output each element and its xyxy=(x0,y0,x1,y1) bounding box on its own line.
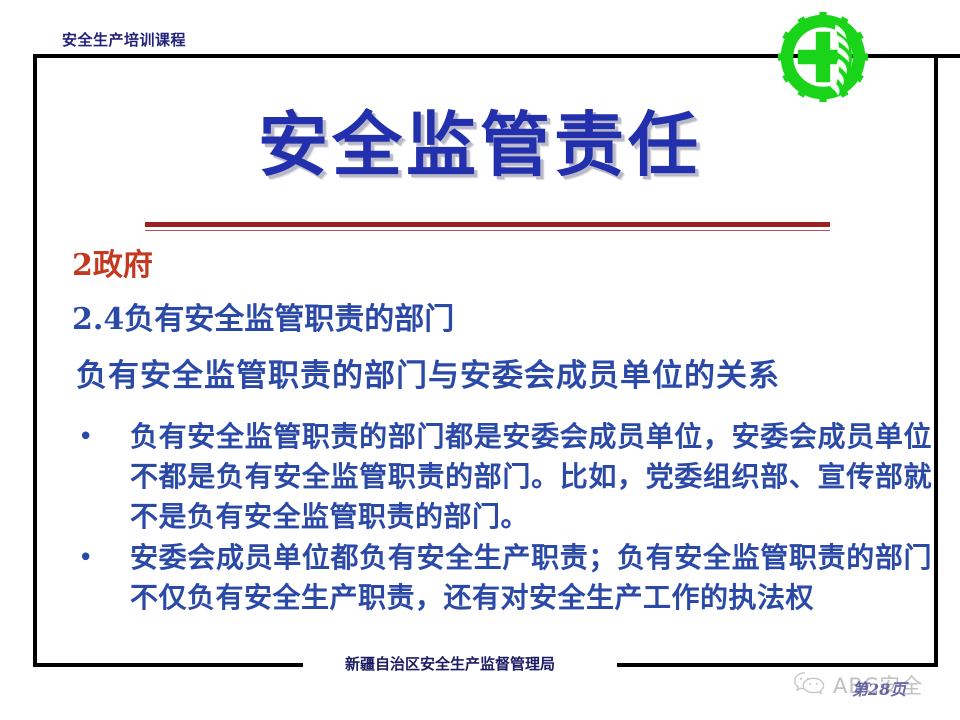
wechat-icon xyxy=(793,670,827,696)
slide-canvas: 安全生产培训课程 xyxy=(0,0,960,720)
section-heading: 2政府 xyxy=(72,249,153,283)
bullet-marker-icon: • xyxy=(72,538,130,578)
topic-line: 负有安全监管职责的部门与安委会成员单位的关系 xyxy=(76,358,780,394)
bullet-marker-icon: • xyxy=(72,417,130,457)
slide-body: 2政府 2.4负有安全监管职责的部门 负有安全监管职责的部门与安委会成员单位的关… xyxy=(0,0,960,720)
sub-heading: 2.4负有安全监管职责的部门 xyxy=(72,303,454,337)
bullet-text: 负有安全监管职责的部门都是安委会成员单位，安委会成员单位不都是负有安全监管职责的… xyxy=(130,417,932,537)
list-item: • 安委会成员单位都负有安全生产职责；负有安全监管职责的部门不仅负有安全生产职责… xyxy=(72,538,932,618)
footer-organization: 新疆自治区安全生产监督管理局 xyxy=(345,653,555,674)
bullet-text: 安委会成员单位都负有安全生产职责；负有安全监管职责的部门不仅负有安全生产职责，还… xyxy=(130,538,932,618)
page-number: 第28页 xyxy=(852,676,906,700)
list-item: • 负有安全监管职责的部门都是安委会成员单位，安委会成员单位不都是负有安全监管职… xyxy=(72,417,932,537)
